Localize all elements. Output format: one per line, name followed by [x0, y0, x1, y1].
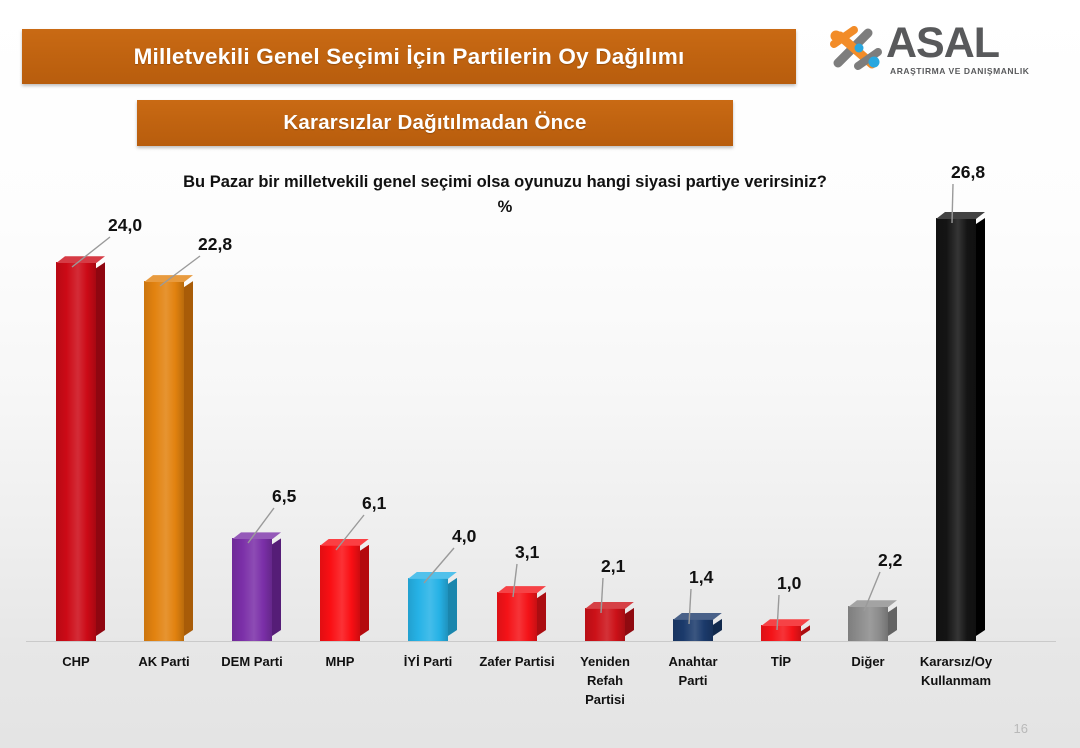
bar-side-face	[713, 619, 722, 636]
bar-front-face	[232, 538, 272, 641]
value-label-di-er: 2,2	[878, 550, 902, 571]
bar-front-face	[585, 608, 625, 641]
bar-side-face	[801, 625, 810, 636]
bar-front-face	[761, 625, 801, 641]
bar-side-face	[537, 592, 546, 636]
bar-zafer-partisi	[497, 592, 537, 641]
page-number: 16	[1014, 721, 1028, 736]
value-label-i-yi-parti: 4,0	[452, 526, 476, 547]
bar-i-yi-parti	[408, 578, 448, 641]
bar-top-face	[585, 602, 634, 609]
bar-side-face	[184, 281, 193, 636]
bar-side-face	[976, 218, 985, 636]
category-label-line: Kullanmam	[901, 671, 1011, 690]
bar-top-face	[232, 532, 281, 539]
bar-top-face	[144, 275, 193, 282]
category-label-karars-z-oy-kullanmam: Kararsız/OyKullanmam	[901, 652, 1011, 690]
bar-yeniden-refah-partisi	[585, 608, 625, 641]
value-label-yeniden-refah-partisi: 2,1	[601, 556, 625, 577]
value-label-chp: 24,0	[108, 215, 142, 236]
bar-top-face	[848, 600, 897, 607]
bar-side-face	[448, 578, 457, 636]
bar-side-face	[96, 262, 105, 636]
bar-front-face	[673, 619, 713, 641]
value-label-ak-parti: 22,8	[198, 234, 232, 255]
bar-di-er	[848, 606, 888, 641]
bar-front-face	[497, 592, 537, 641]
bar-front-face	[936, 218, 976, 641]
bar-front-face	[320, 545, 360, 641]
bar-front-face	[56, 262, 96, 641]
bar-top-face	[320, 539, 369, 546]
bar-side-face	[888, 606, 897, 636]
bar-ak-parti	[144, 281, 184, 641]
bar-dem-parti	[232, 538, 272, 641]
value-label-karars-z-oy-kullanmam: 26,8	[951, 162, 985, 183]
bar-top-face	[673, 613, 722, 620]
bar-top-face	[761, 619, 810, 626]
bar-front-face	[848, 606, 888, 641]
bar-top-face	[497, 586, 546, 593]
bar-chart: 24,0CHP22,8AK Parti6,5DEM Parti6,1MHP4,0…	[0, 0, 1080, 748]
bar-anahtar-parti	[673, 619, 713, 641]
bar-ti-p	[761, 625, 801, 641]
bar-chp	[56, 262, 96, 641]
bar-mhp	[320, 545, 360, 641]
value-label-mhp: 6,1	[362, 493, 386, 514]
bar-side-face	[360, 545, 369, 636]
bar-karars-z-oy-kullanmam	[936, 218, 976, 641]
bar-side-face	[272, 538, 281, 636]
category-label-line: Kararsız/Oy	[901, 652, 1011, 671]
category-label-line: Partisi	[550, 690, 660, 709]
bar-front-face	[408, 578, 448, 641]
bar-front-face	[144, 281, 184, 641]
bar-top-face	[56, 256, 105, 263]
slide-root: Milletvekili Genel Seçimi İçin Partileri…	[0, 0, 1080, 748]
value-label-zafer-partisi: 3,1	[515, 542, 539, 563]
chart-baseline	[26, 641, 1056, 642]
bar-top-face	[936, 212, 985, 219]
bar-side-face	[625, 608, 634, 636]
category-label-line: Parti	[638, 671, 748, 690]
bar-top-face	[408, 572, 457, 579]
value-label-anahtar-parti: 1,4	[689, 567, 713, 588]
value-label-dem-parti: 6,5	[272, 486, 296, 507]
value-label-ti-p: 1,0	[777, 573, 801, 594]
